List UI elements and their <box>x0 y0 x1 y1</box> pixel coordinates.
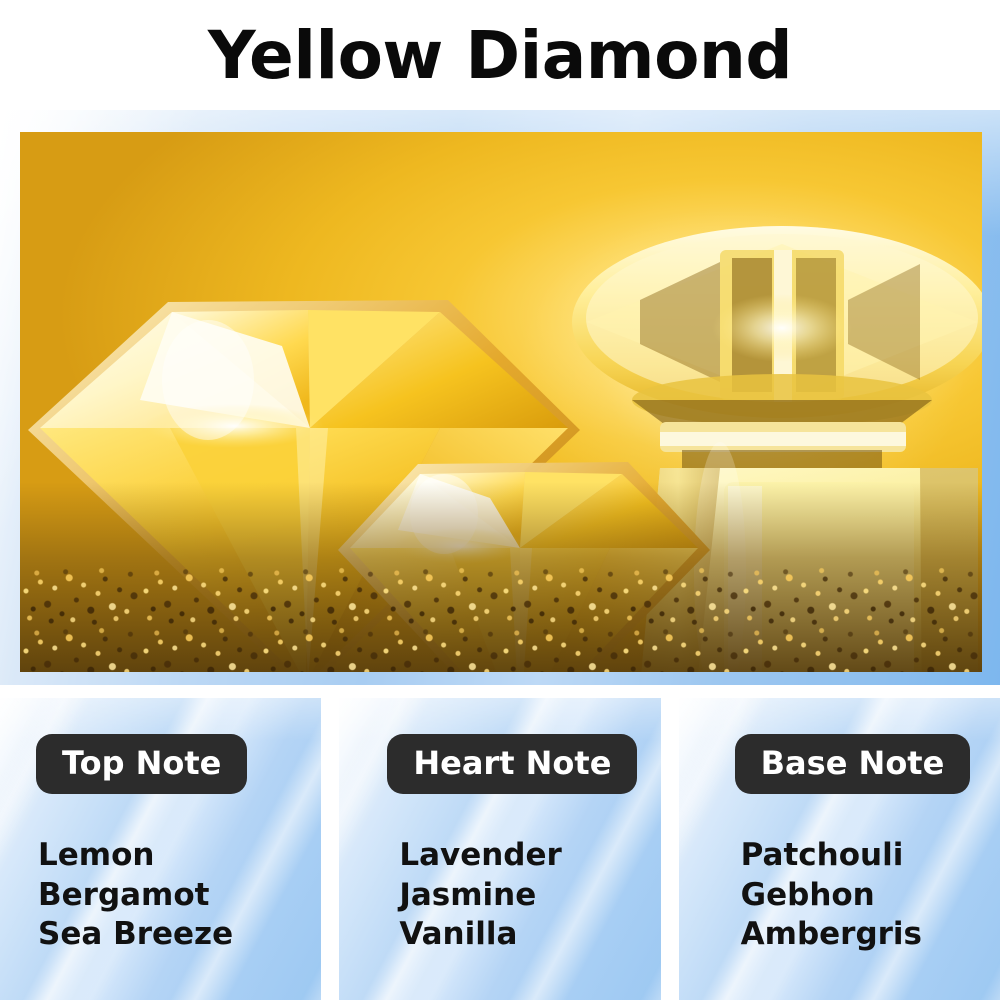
note-ingredient: Patchouli <box>741 836 1000 876</box>
note-ingredient: Sea Breeze <box>38 915 321 955</box>
note-ingredient-list: Patchouli Gebhon Ambergris <box>741 836 1000 955</box>
note-ingredient: Lavender <box>399 836 660 876</box>
note-ingredient: Vanilla <box>399 915 660 955</box>
bottle-neck <box>660 422 906 472</box>
note-ingredient: Gebhon <box>741 876 1000 916</box>
note-ingredient: Jasmine <box>399 876 660 916</box>
note-ingredient-list: Lemon Bergamot Sea Breeze <box>38 836 321 955</box>
note-card-label: Base Note <box>735 734 971 794</box>
note-ingredient: Ambergris <box>741 915 1000 955</box>
note-ingredient: Bergamot <box>38 876 321 916</box>
hero-product-image <box>20 132 982 672</box>
note-ingredient: Lemon <box>38 836 321 876</box>
note-card-label: Heart Note <box>387 734 637 794</box>
product-infographic: Yellow Diamond <box>0 0 1000 1000</box>
hero-glitter-texture <box>20 567 982 672</box>
fragrance-notes-row: Top Note Lemon Bergamot Sea Breeze Heart… <box>0 698 1000 1000</box>
note-card-heart: Heart Note Lavender Jasmine Vanilla <box>339 698 660 1000</box>
note-card-label: Top Note <box>36 734 247 794</box>
bottle-cap <box>572 226 982 426</box>
note-card-top: Top Note Lemon Bergamot Sea Breeze <box>0 698 321 1000</box>
note-ingredient-list: Lavender Jasmine Vanilla <box>399 836 660 955</box>
title-bar: Yellow Diamond <box>0 0 1000 112</box>
page-title: Yellow Diamond <box>208 23 792 89</box>
note-card-base: Base Note Patchouli Gebhon Ambergris <box>679 698 1000 1000</box>
